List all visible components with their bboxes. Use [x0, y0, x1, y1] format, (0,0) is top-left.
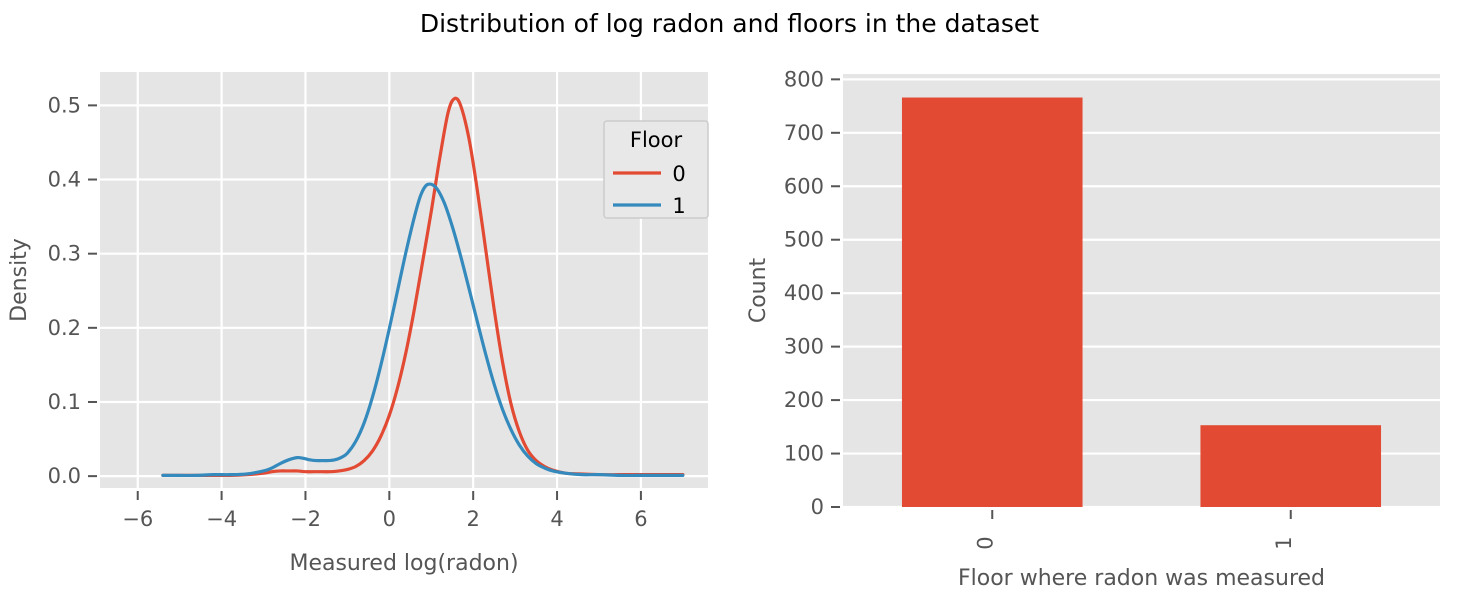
- density-xtick-label: 4: [550, 507, 563, 531]
- figure-canvas: Distribution of log radon and floors in …: [0, 0, 1459, 592]
- density-ytick-label: 0.5: [48, 93, 81, 117]
- density-xtick-label: 2: [466, 507, 479, 531]
- density-xtick-label: 6: [634, 507, 647, 531]
- density-ytick-label: 0.2: [48, 316, 81, 340]
- count-ytick-label: 200: [784, 388, 824, 412]
- density-legend[interactable]: Floor01: [604, 121, 708, 218]
- count-bar-floor-0[interactable]: [902, 98, 1083, 507]
- count-ytick-label: 0: [811, 495, 824, 519]
- count-xtick-label-1: 1: [1272, 536, 1296, 549]
- density-yaxis-title: Density: [7, 238, 32, 322]
- density-ytick-label: 0.3: [48, 242, 81, 266]
- count-ytick-label: 700: [784, 121, 824, 145]
- count-ytick-label: 800: [784, 67, 824, 91]
- count-ytick-label: 600: [784, 174, 824, 198]
- density-ytick-label: 0.0: [48, 464, 81, 488]
- count-ytick-label: 400: [784, 281, 824, 305]
- count-bar-floor-1[interactable]: [1200, 425, 1381, 507]
- legend-label-floor-1: 1: [672, 194, 685, 218]
- density-ytick-label: 0.4: [48, 168, 81, 192]
- density-xtick-label: 0: [383, 507, 396, 531]
- legend-label-floor-0: 0: [672, 162, 685, 186]
- count-ytick-label: 500: [784, 228, 824, 252]
- count-plot-svg: 010020030040050060070080001Floor where r…: [735, 45, 1459, 592]
- page-title: Distribution of log radon and floors in …: [0, 9, 1459, 38]
- density-xaxis-title: Measured log(radon): [289, 551, 518, 576]
- density-plot-axes: −6−4−202460.00.10.20.30.40.5Measured log…: [0, 45, 735, 592]
- count-ytick-label: 300: [784, 335, 824, 359]
- density-plot-svg: −6−4−202460.00.10.20.30.40.5Measured log…: [0, 45, 735, 592]
- count-plot-axes: 010020030040050060070080001Floor where r…: [735, 45, 1459, 592]
- count-xtick-label-0: 0: [973, 536, 997, 549]
- count-ytick-label: 100: [784, 442, 824, 466]
- density-xtick-label: −4: [206, 507, 237, 531]
- density-xtick-label: −2: [290, 507, 321, 531]
- legend-title: Floor: [630, 128, 683, 152]
- density-ytick-label: 0.1: [48, 390, 81, 414]
- count-yaxis-title: Count: [746, 257, 771, 323]
- count-xaxis-title: Floor where radon was measured: [958, 566, 1325, 591]
- density-xtick-label: −6: [122, 507, 153, 531]
